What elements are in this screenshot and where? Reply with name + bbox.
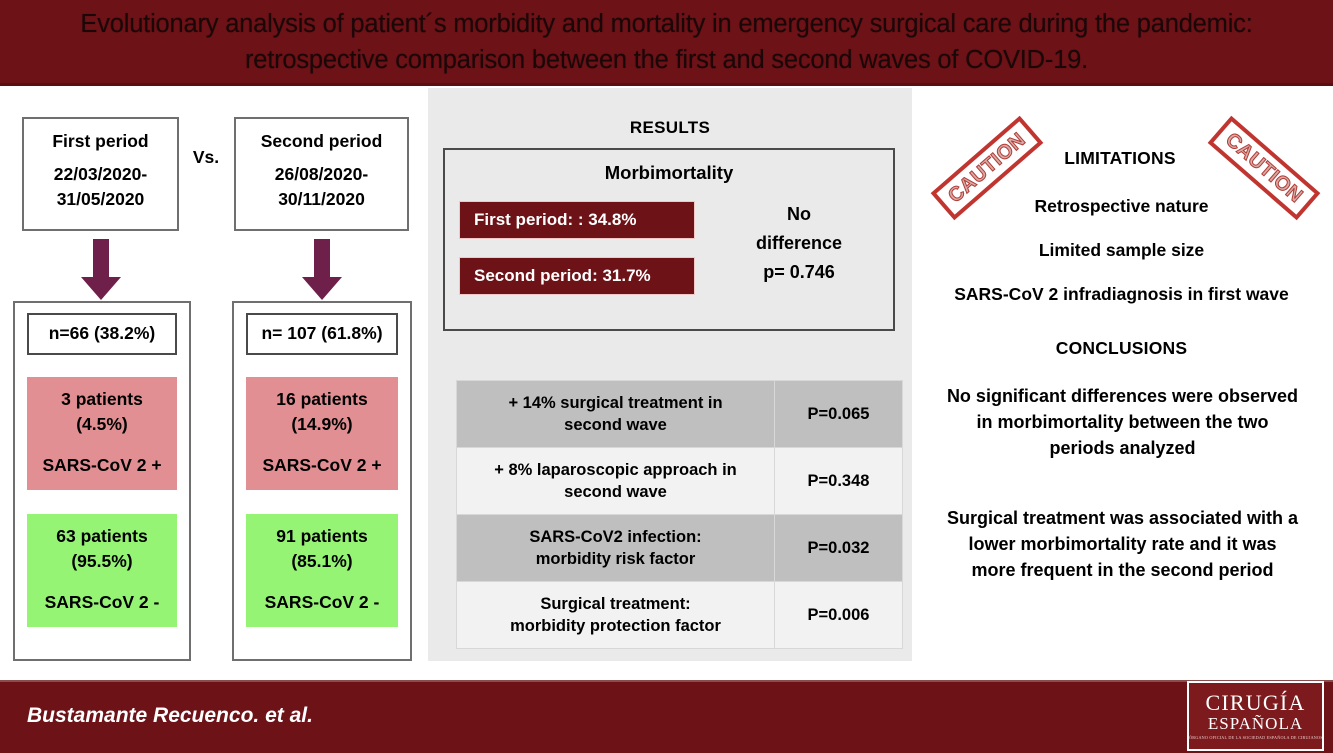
period-dates-second: 26/08/2020- 30/11/2020 [236,162,407,212]
table-cell-pvalue: P=0.348 [775,448,903,515]
table-cell-finding: + 8% laparoscopic approach in second wav… [457,448,775,515]
period-title-first: First period [24,129,177,153]
page-title: Evolutionary analysis of patient´s morbi… [18,6,1315,78]
sars-negative-group-second: 91 patients (85.1%) SARS-CoV 2 - [246,514,398,627]
period-dates-first: 22/03/2020- 31/05/2020 [24,162,177,212]
sars-positive-group-second: 16 patients (14.9%) SARS-CoV 2 + [246,377,398,490]
morbimortality-verdict: No difference [713,200,885,258]
sars-negative-percent-second: (85.1%) [250,549,394,574]
table-cell-pvalue: P=0.032 [775,515,903,582]
finding-line-1: + 8% laparoscopic approach in [463,459,768,481]
limitations-heading: LIMITATIONS [1010,148,1230,169]
table-cell-pvalue: P=0.006 [775,582,903,649]
sars-positive-percent-second: (14.9%) [250,412,394,437]
finding-line-1: SARS-CoV2 infection: [463,526,768,548]
sars-negative-count-first: 63 patients [31,524,173,549]
period-date-start-first: 22/03/2020- [24,162,177,187]
table-cell-finding: SARS-CoV2 infection: morbidity risk fact… [457,515,775,582]
journal-name-line-2: ESPAÑOLA [1189,714,1322,733]
table-cell-finding: + 14% surgical treatment in second wave [457,381,775,448]
sars-negative-percent-first: (95.5%) [31,549,173,574]
sars-positive-percent-first: (4.5%) [31,412,173,437]
conclusion-paragraph: No significant differences were observed… [945,383,1300,461]
period-date-start-second: 26/08/2020- [236,162,407,187]
sars-negative-status-second: SARS-CoV 2 - [250,590,394,615]
morbimortality-box: Morbimortality First period: : 34.8% Sec… [443,148,895,331]
down-arrow-icon-first [80,239,122,301]
morbimortality-bar-second-period: Second period: 31.7% [459,257,695,295]
sars-positive-count-second: 16 patients [250,387,394,412]
finding-line-1: + 14% surgical treatment in [463,392,768,414]
period-header-box-second: Second period 26/08/2020- 30/11/2020 [234,117,409,231]
table-row: SARS-CoV2 infection: morbidity risk fact… [457,515,903,582]
period-date-end-first: 31/05/2020 [24,187,177,212]
conclusions-heading: CONCLUSIONS [910,338,1333,359]
morbimortality-bar-first-period: First period: : 34.8% [459,201,695,239]
limitation-item: SARS-CoV 2 infradiagnosis in first wave [910,284,1333,305]
limitation-item: Retrospective nature [910,196,1333,217]
morbimortality-p-value: p= 0.746 [713,262,885,283]
poster-title-bar: Evolutionary analysis of patient´s morbi… [0,0,1333,86]
journal-logo: CIRUGÍA ESPAÑOLA ÓRGANO OFICIAL DE LA SO… [1187,681,1324,751]
conclusion-paragraph: Surgical treatment was associated with a… [945,505,1300,583]
table-row: Surgical treatment: morbidity protection… [457,582,903,649]
down-arrow-icon-second [301,239,343,301]
statistics-table: + 14% surgical treatment in second wave … [456,380,903,649]
patients-panel-second: n= 107 (61.8%) 16 patients (14.9%) SARS-… [232,301,412,661]
period-header-box-first: First period 22/03/2020- 31/05/2020 [22,117,179,231]
patients-panel-first: n=66 (38.2%) 3 patients (4.5%) SARS-CoV … [13,301,191,661]
author-credit: Bustamante Recuenco. et al. [27,704,313,728]
table-cell-pvalue: P=0.065 [775,381,903,448]
period-title-second: Second period [236,129,407,153]
table-row: + 14% surgical treatment in second wave … [457,381,903,448]
results-heading: RESULTS [428,118,912,138]
finding-line-2: morbidity protection factor [463,615,768,637]
finding-line-2: morbidity risk factor [463,548,768,570]
morbimortality-verdict-line-1: No [713,200,885,229]
sars-negative-status-first: SARS-CoV 2 - [31,590,173,615]
morbimortality-verdict-line-2: difference [713,229,885,258]
finding-line-2: second wave [463,481,768,503]
sars-negative-count-second: 91 patients [250,524,394,549]
journal-tagline: ÓRGANO OFICIAL DE LA SOCIEDAD ESPAÑOLA D… [1189,735,1322,740]
sars-positive-status-second: SARS-CoV 2 + [250,453,394,478]
morbimortality-title: Morbimortality [445,162,893,184]
finding-line-2: second wave [463,414,768,436]
finding-line-1: Surgical treatment: [463,593,768,615]
sars-positive-group-first: 3 patients (4.5%) SARS-CoV 2 + [27,377,177,490]
sars-positive-status-first: SARS-CoV 2 + [31,453,173,478]
table-row: + 8% laparoscopic approach in second wav… [457,448,903,515]
table-cell-finding: Surgical treatment: morbidity protection… [457,582,775,649]
vs-label: Vs. [184,147,228,168]
sample-size-box-first: n=66 (38.2%) [27,313,177,355]
limitation-item: Limited sample size [910,240,1333,261]
poster-footer-bar: Bustamante Recuenco. et al. [0,680,1333,753]
journal-name-line-1: CIRUGÍA [1189,692,1322,714]
period-date-end-second: 30/11/2020 [236,187,407,212]
sars-negative-group-first: 63 patients (95.5%) SARS-CoV 2 - [27,514,177,627]
sars-positive-count-first: 3 patients [31,387,173,412]
sample-size-box-second: n= 107 (61.8%) [246,313,398,355]
